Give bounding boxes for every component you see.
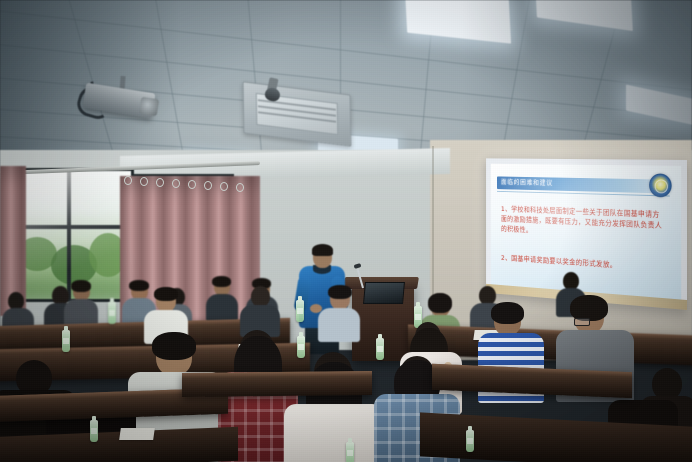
bottle-icon [466, 430, 474, 452]
slide-bullet: 1、学校和科技处层面制定一些关于团队在国基申请方面的激励措施，既要有压力，又能充… [501, 204, 665, 242]
bottle-icon [296, 300, 304, 322]
university-seal-icon [649, 173, 672, 197]
lecture-hall-photo: 面临的困难和建议 1、学校和科技处层面制定一些关于团队在国基申请方面的激励措施，… [0, 0, 692, 462]
desk-row [182, 371, 372, 397]
bottle-icon [346, 442, 354, 462]
slide-bullet: 2、国基申请奖励要以奖金的形式发放。 [501, 252, 665, 273]
monitor-icon [363, 282, 405, 304]
paper-icon [119, 428, 155, 440]
slide-title: 面临的困难和建议 [501, 177, 553, 187]
projection-screen[interactable]: 面临的困难和建议 1、学校和科技处层面制定一些关于团队在国基申请方面的激励措施，… [486, 158, 687, 310]
bottle-icon [62, 330, 70, 352]
bottle-icon [108, 302, 116, 324]
bottle-icon [90, 420, 98, 442]
